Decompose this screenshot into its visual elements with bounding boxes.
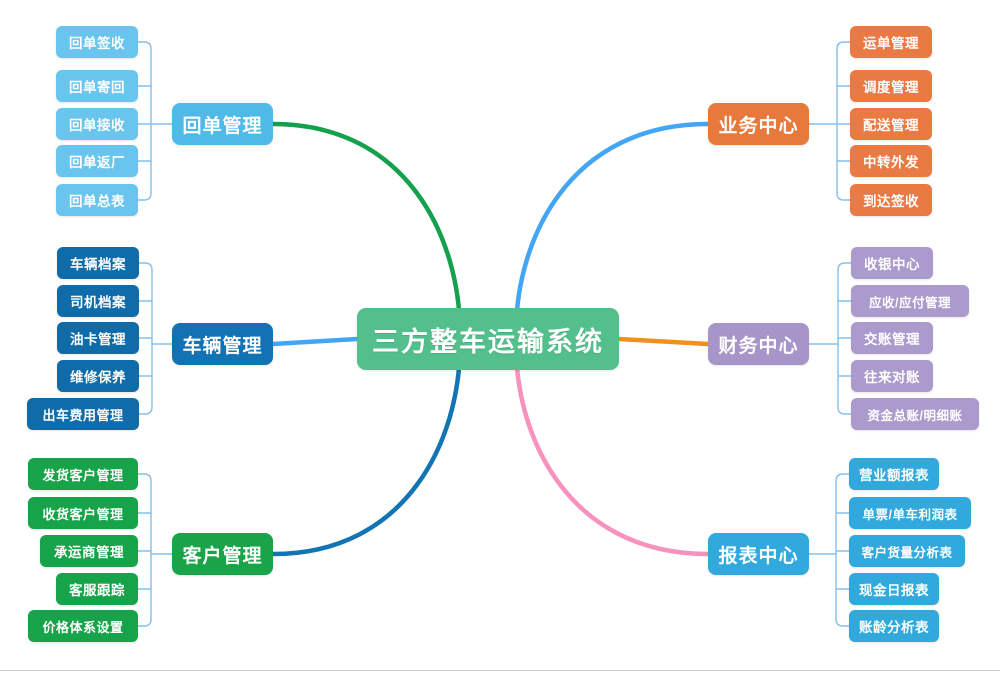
leaf-node-receipt-management-2[interactable]: 回单接收 [56, 108, 138, 140]
node-label: 业务中心 [718, 111, 798, 138]
node-label: 报表中心 [718, 541, 798, 568]
node-label: 回单接收 [69, 114, 125, 134]
node-label: 油卡管理 [70, 328, 126, 348]
leaf-node-vehicle-management-4[interactable]: 出车费用管理 [27, 398, 139, 430]
leaf-node-receipt-management-4[interactable]: 回单总表 [56, 184, 138, 216]
connector-path [836, 619, 849, 626]
node-label: 司机档案 [70, 291, 126, 311]
leaf-node-customer-management-3[interactable]: 客服跟踪 [56, 573, 138, 605]
node-label: 客服跟踪 [69, 579, 125, 599]
connector-path [516, 124, 708, 333]
node-label: 账龄分析表 [859, 616, 929, 636]
node-label: 客户管理 [182, 541, 262, 568]
center-node[interactable]: 三方整车运输系统 [357, 308, 619, 370]
node-label: 应收/应付管理 [869, 292, 951, 311]
connector-path [138, 193, 151, 200]
node-label: 维修保养 [70, 366, 126, 386]
node-label: 回单寄回 [69, 76, 125, 96]
node-label: 价格体系设置 [42, 617, 123, 636]
node-label: 运单管理 [863, 32, 919, 52]
node-label: 车辆档案 [70, 253, 126, 273]
node-label: 车辆管理 [182, 331, 262, 358]
leaf-node-customer-management-4[interactable]: 价格体系设置 [28, 610, 138, 642]
node-label: 交账管理 [864, 328, 920, 348]
connector-path [836, 474, 849, 481]
connector-path [139, 263, 152, 270]
leaf-node-report-center-1[interactable]: 单票/单车利润表 [849, 497, 971, 529]
leaf-node-report-center-2[interactable]: 客户货量分析表 [849, 535, 965, 567]
node-label: 客户货量分析表 [861, 542, 952, 561]
leaf-node-report-center-3[interactable]: 现金日报表 [849, 573, 939, 605]
node-label: 发货客户管理 [42, 465, 123, 484]
leaf-node-report-center-0[interactable]: 营业额报表 [849, 458, 939, 490]
node-label: 现金日报表 [859, 579, 929, 599]
leaf-node-customer-management-2[interactable]: 承运商管理 [40, 535, 138, 567]
leaf-node-receipt-management-3[interactable]: 回单返厂 [56, 145, 138, 177]
connector-path [837, 193, 850, 200]
leaf-node-finance-center-3[interactable]: 往来对账 [851, 360, 933, 392]
leaf-node-vehicle-management-3[interactable]: 维修保养 [57, 360, 139, 392]
leaf-node-business-center-0[interactable]: 运单管理 [850, 26, 932, 58]
node-label: 收货客户管理 [42, 504, 123, 523]
leaf-node-business-center-2[interactable]: 配送管理 [850, 108, 932, 140]
connector-path [838, 407, 851, 414]
node-label: 财务中心 [718, 331, 798, 358]
node-label: 到达签收 [863, 190, 919, 210]
connector-path [273, 339, 357, 344]
node-label: 回单管理 [182, 111, 262, 138]
node-label: 单票/单车利润表 [863, 504, 958, 523]
leaf-node-vehicle-management-0[interactable]: 车辆档案 [57, 247, 139, 279]
branch-node-receipt-management[interactable]: 回单管理 [172, 103, 273, 145]
node-label: 配送管理 [863, 114, 919, 134]
connector-path [138, 42, 151, 49]
leaf-node-vehicle-management-1[interactable]: 司机档案 [57, 285, 139, 317]
leaf-node-finance-center-4[interactable]: 资金总账/明细账 [851, 398, 979, 430]
branch-node-finance-center[interactable]: 财务中心 [708, 323, 809, 365]
connector-path [838, 263, 851, 270]
node-label: 回单签收 [69, 32, 125, 52]
leaf-node-receipt-management-0[interactable]: 回单签收 [56, 26, 138, 58]
node-label: 往来对账 [864, 366, 920, 386]
node-label: 营业额报表 [859, 464, 929, 484]
leaf-node-finance-center-1[interactable]: 应收/应付管理 [851, 285, 969, 317]
branch-node-vehicle-management[interactable]: 车辆管理 [172, 323, 273, 365]
node-label: 资金总账/明细账 [868, 405, 963, 424]
leaf-node-finance-center-2[interactable]: 交账管理 [851, 322, 933, 354]
leaf-node-receipt-management-1[interactable]: 回单寄回 [56, 70, 138, 102]
leaf-node-business-center-4[interactable]: 到达签收 [850, 184, 932, 216]
connector-path [138, 619, 151, 626]
branch-node-business-center[interactable]: 业务中心 [708, 103, 809, 145]
branch-node-report-center[interactable]: 报表中心 [708, 533, 809, 575]
mindmap-canvas: 回单签收回单寄回回单接收回单返厂回单总表回单管理车辆档案司机档案油卡管理维修保养… [0, 0, 1000, 676]
bottom-divider [0, 670, 1000, 671]
leaf-node-business-center-1[interactable]: 调度管理 [850, 70, 932, 102]
node-label: 承运商管理 [54, 541, 124, 561]
node-label: 调度管理 [863, 76, 919, 96]
leaf-node-vehicle-management-2[interactable]: 油卡管理 [57, 322, 139, 354]
branch-node-customer-management[interactable]: 客户管理 [172, 533, 273, 575]
leaf-node-customer-management-1[interactable]: 收货客户管理 [28, 497, 138, 529]
connector-path [837, 42, 850, 49]
connector-path [273, 124, 460, 333]
connector-path [619, 339, 708, 344]
connector-path [273, 345, 460, 554]
connector-path [139, 407, 152, 414]
node-label: 收银中心 [864, 253, 920, 273]
leaf-node-customer-management-0[interactable]: 发货客户管理 [28, 458, 138, 490]
leaf-node-finance-center-0[interactable]: 收银中心 [851, 247, 933, 279]
leaf-node-business-center-3[interactable]: 中转外发 [850, 145, 932, 177]
node-label: 回单总表 [69, 190, 125, 210]
node-label: 回单返厂 [69, 151, 125, 171]
node-label: 出车费用管理 [42, 405, 123, 424]
node-label: 中转外发 [863, 151, 919, 171]
node-label: 三方整车运输系统 [372, 320, 604, 359]
leaf-node-report-center-4[interactable]: 账龄分析表 [849, 610, 939, 642]
connector-path [516, 345, 708, 554]
connector-path [138, 474, 151, 481]
